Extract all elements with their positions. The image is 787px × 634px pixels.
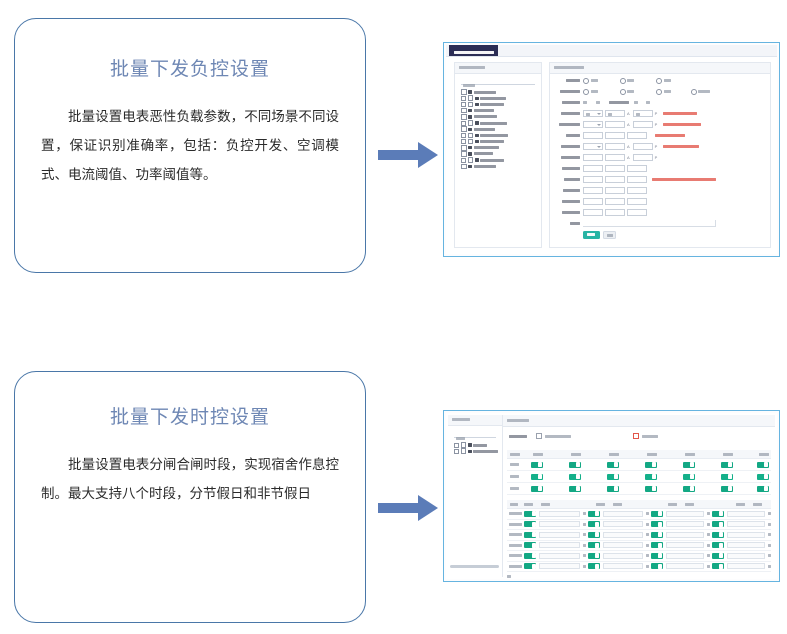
period-time-input[interactable] xyxy=(539,542,579,548)
toggle-switch[interactable] xyxy=(531,486,543,492)
period-sep xyxy=(583,523,586,526)
footer-note-bar xyxy=(507,575,511,578)
radio-label xyxy=(627,79,634,82)
submit-button[interactable] xyxy=(583,231,600,239)
threshold-input-1[interactable] xyxy=(583,143,603,150)
time-control-content xyxy=(503,415,775,577)
radio-label xyxy=(591,79,598,82)
period-time-input[interactable] xyxy=(727,542,765,548)
toggle-switch[interactable] xyxy=(683,474,695,480)
toggle-switch[interactable] xyxy=(645,474,657,480)
holiday-grid-row[interactable] xyxy=(507,459,771,471)
period-time-input[interactable] xyxy=(603,521,643,527)
tree-checkbox[interactable] xyxy=(468,133,474,139)
period-toggle[interactable] xyxy=(588,542,600,548)
period-time-input[interactable] xyxy=(727,553,765,559)
holiday-checkbox[interactable] xyxy=(633,433,639,439)
threshold-input-3[interactable] xyxy=(627,187,647,194)
time-control-header xyxy=(503,415,775,427)
panel-header-bar xyxy=(452,418,470,421)
toggle-switch[interactable] xyxy=(607,462,619,468)
device-tree-panel-header-2 xyxy=(448,415,502,426)
period-toggle[interactable] xyxy=(651,532,663,538)
window-inner-surface xyxy=(446,413,777,579)
toggle-switch[interactable] xyxy=(757,486,769,492)
window-inner-surface: A P A P xyxy=(446,45,777,254)
tab-load-control[interactable] xyxy=(449,45,498,56)
row-label xyxy=(510,487,519,490)
radio-label xyxy=(664,79,671,82)
period-time-input[interactable] xyxy=(666,521,704,527)
col-header xyxy=(533,453,543,456)
folder-icon xyxy=(468,109,472,112)
switch-value xyxy=(583,101,587,104)
tree-item-label xyxy=(474,165,496,168)
col-header xyxy=(753,503,762,506)
screenshot-time-control-window xyxy=(443,410,780,582)
search-placeholder-bar xyxy=(463,84,475,87)
form-label xyxy=(550,210,583,215)
device-tree-panel xyxy=(454,62,542,248)
radio-label xyxy=(591,90,598,93)
form-action-row[interactable] xyxy=(550,229,770,240)
tree-item-label xyxy=(474,91,496,94)
period-toggle[interactable] xyxy=(651,511,663,517)
period-time-input[interactable] xyxy=(727,532,765,538)
toggle-switch[interactable] xyxy=(645,462,657,468)
folder-icon xyxy=(468,128,472,131)
period-sep xyxy=(646,523,649,526)
expand-icon[interactable] xyxy=(461,139,466,144)
period-sep xyxy=(646,554,649,557)
arrow-to-time-control-screenshot xyxy=(378,495,438,521)
threshold-input-1[interactable] xyxy=(583,110,603,117)
form-hint xyxy=(652,178,716,181)
tab-strip xyxy=(446,45,777,57)
caption-card-load-control: 批量下发负控设置 批量设置电表恶性负载参数，不同场景不同设置，保证识别准确率，包… xyxy=(14,18,366,273)
period-label xyxy=(509,544,522,547)
tree-checkbox[interactable] xyxy=(461,151,467,157)
switch-sep xyxy=(596,101,600,104)
threshold-input-2[interactable] xyxy=(605,121,625,128)
folder-icon xyxy=(475,134,479,137)
period-toggle[interactable] xyxy=(712,511,724,517)
form-label xyxy=(550,133,583,138)
form-row-limit-power[interactable] xyxy=(550,196,770,207)
form-hint xyxy=(663,145,699,148)
period-toggle[interactable] xyxy=(712,521,724,527)
tree-item-label xyxy=(473,450,498,453)
tree-checkbox[interactable] xyxy=(468,157,474,163)
radio-option[interactable] xyxy=(620,78,626,84)
threshold-input-1[interactable] xyxy=(583,198,603,205)
toggle-switch[interactable] xyxy=(569,462,581,468)
col-header xyxy=(524,503,533,506)
tree-item-label xyxy=(480,122,507,125)
folder-icon xyxy=(468,90,472,93)
tree-item-label xyxy=(473,444,487,447)
tree-checkbox[interactable] xyxy=(468,139,474,145)
col-header xyxy=(571,453,581,456)
threshold-input-1[interactable] xyxy=(583,176,603,183)
threshold-input-2[interactable] xyxy=(605,132,625,139)
form-label xyxy=(550,78,583,83)
period-sep xyxy=(646,533,649,536)
period-sep xyxy=(707,512,710,515)
unit-label: P xyxy=(655,111,658,116)
form-row-current-threshold[interactable]: A P xyxy=(550,141,770,152)
period-sep xyxy=(707,544,710,547)
tree-item-label xyxy=(474,152,493,155)
switch-group-label xyxy=(609,101,629,104)
form-row-high-power[interactable] xyxy=(550,174,770,185)
tree-item-label xyxy=(474,109,494,112)
form-row-load-switch[interactable] xyxy=(550,97,770,108)
period-label xyxy=(509,512,522,515)
form-row-identify-mode[interactable] xyxy=(550,86,770,97)
period-toggle[interactable] xyxy=(588,521,600,527)
unit-label: A xyxy=(627,122,630,127)
tree-checkbox[interactable] xyxy=(468,95,474,101)
holiday-grid-header xyxy=(507,450,771,459)
radio-label xyxy=(664,90,671,93)
period-label xyxy=(509,533,522,536)
tree-item-label xyxy=(480,103,504,106)
form-row-power-threshold[interactable]: A P xyxy=(550,152,770,163)
card-title-load-control: 批量下发负控设置 xyxy=(15,54,365,81)
folder-icon xyxy=(468,450,472,453)
form-label xyxy=(550,89,583,94)
card-body-text-time-control: 批量设置电表分闸合闸时段，实现宿舍作息控制。最大支持八个时段，分节假日和非节假日 xyxy=(41,457,339,502)
date-value xyxy=(545,435,571,438)
period-row[interactable] xyxy=(507,530,771,541)
period-row[interactable] xyxy=(507,541,771,552)
tree-checkbox[interactable] xyxy=(461,126,467,132)
threshold-input-3[interactable] xyxy=(627,165,647,172)
threshold-input-3[interactable] xyxy=(627,176,647,183)
unit-label: A xyxy=(627,144,630,149)
period-row[interactable] xyxy=(507,520,771,531)
period-toggle[interactable] xyxy=(651,553,663,559)
load-parameter-form[interactable]: A P A P xyxy=(550,75,770,247)
period-toggle[interactable] xyxy=(524,553,536,559)
period-time-input[interactable] xyxy=(539,511,579,517)
tree-checkbox[interactable] xyxy=(461,442,467,448)
period-time-input[interactable] xyxy=(603,542,643,548)
period-toggle[interactable] xyxy=(712,532,724,538)
radio-option[interactable] xyxy=(656,89,662,95)
form-row-resistance-wire[interactable] xyxy=(550,130,770,141)
period-toggle[interactable] xyxy=(712,553,724,559)
form-hint xyxy=(663,112,697,115)
radio-label xyxy=(698,90,710,93)
arrow-to-load-control-screenshot xyxy=(378,142,438,168)
period-row[interactable] xyxy=(507,509,771,520)
period-time-input[interactable] xyxy=(727,521,765,527)
folder-icon xyxy=(475,140,479,143)
threshold-input-1[interactable] xyxy=(583,132,603,139)
col-header xyxy=(613,503,622,506)
form-row-heater-threshold[interactable]: A P xyxy=(550,119,770,130)
folder-icon xyxy=(468,165,472,168)
device-tree-panel-header xyxy=(455,63,541,74)
radio-option[interactable] xyxy=(583,78,589,84)
col-header xyxy=(541,503,550,506)
threshold-input-1[interactable] xyxy=(583,165,603,172)
form-panel-header xyxy=(550,63,770,74)
arrow-shaft xyxy=(378,150,420,160)
switch-value xyxy=(634,101,638,104)
toggle-switch[interactable] xyxy=(721,462,733,468)
toggle-switch[interactable] xyxy=(569,486,581,492)
device-tree-panel-2 xyxy=(448,415,503,577)
form-label xyxy=(550,199,583,204)
tree-item-label xyxy=(480,159,504,162)
tree-checkbox[interactable] xyxy=(461,145,467,151)
threshold-input-3[interactable] xyxy=(633,121,653,128)
search-placeholder-bar xyxy=(456,437,465,440)
folder-icon xyxy=(468,115,472,118)
form-hint xyxy=(655,134,685,137)
period-time-input[interactable] xyxy=(603,553,643,559)
device-tree-2[interactable] xyxy=(454,442,498,454)
submit-label-bar xyxy=(587,233,595,236)
expand-icon[interactable] xyxy=(461,158,466,163)
threshold-input-3[interactable] xyxy=(633,143,653,150)
expand-icon[interactable] xyxy=(461,133,466,138)
threshold-input-3[interactable] xyxy=(627,209,647,216)
form-label xyxy=(550,166,583,171)
arrow-shaft xyxy=(378,503,420,513)
reset-label-bar xyxy=(607,234,613,237)
threshold-input-1[interactable] xyxy=(583,187,603,194)
card-body-load-control: 批量设置电表恶性负载参数，不同场景不同设置，保证识别准确率，包括：负控开发、空调… xyxy=(41,103,339,190)
radio-option[interactable] xyxy=(583,89,589,95)
threshold-input-2[interactable] xyxy=(605,110,625,117)
tree-item-label xyxy=(474,115,497,118)
period-sep xyxy=(646,512,649,515)
period-sep xyxy=(707,533,710,536)
tree-checkbox[interactable] xyxy=(468,102,474,108)
tree-item-label xyxy=(474,128,495,131)
threshold-input-2[interactable] xyxy=(605,154,625,161)
period-toggle[interactable] xyxy=(524,511,536,517)
threshold-input-2[interactable] xyxy=(605,176,625,183)
period-time-input[interactable] xyxy=(666,532,704,538)
period-sep xyxy=(768,512,771,515)
screenshot-load-control-window: A P A P xyxy=(443,42,780,257)
threshold-input-1[interactable] xyxy=(583,209,603,216)
toggle-switch[interactable] xyxy=(531,474,543,480)
panel-header-bar xyxy=(459,66,485,69)
period-sep xyxy=(768,523,771,526)
expand-icon[interactable] xyxy=(454,443,459,448)
arrow-head xyxy=(418,142,438,168)
calendar-icon xyxy=(536,433,542,439)
tree-search-input[interactable] xyxy=(461,76,535,85)
panel-header-bar xyxy=(507,419,529,422)
period-toggle[interactable] xyxy=(712,542,724,548)
threshold-input-3[interactable] xyxy=(627,198,647,205)
period-toggle[interactable] xyxy=(588,532,600,538)
period-time-input[interactable] xyxy=(666,511,704,517)
threshold-input-2[interactable] xyxy=(605,143,625,150)
period-sep xyxy=(583,512,586,515)
unit-label: P xyxy=(655,155,658,160)
col-header xyxy=(685,453,695,456)
period-time-input[interactable] xyxy=(539,521,579,527)
toggle-switch[interactable] xyxy=(569,474,581,480)
period-time-input[interactable] xyxy=(666,553,704,559)
radio-label xyxy=(627,90,634,93)
period-row[interactable] xyxy=(507,551,771,562)
expand-icon[interactable] xyxy=(461,102,466,107)
device-tree[interactable] xyxy=(461,89,537,169)
form-row-protect-duration[interactable] xyxy=(550,207,770,218)
period-sep xyxy=(646,544,649,547)
period-toggle[interactable] xyxy=(524,521,536,527)
holiday-grid-row[interactable] xyxy=(507,471,771,483)
tab-label-bar xyxy=(454,51,494,54)
unit-label: A xyxy=(627,155,630,160)
tree-item-label xyxy=(480,140,504,143)
row-label xyxy=(510,475,519,478)
period-grid-body[interactable] xyxy=(507,509,771,572)
tree-horizontal-scrollbar[interactable] xyxy=(450,565,499,569)
tree-checkbox[interactable] xyxy=(461,89,467,95)
form-row-remark[interactable] xyxy=(550,218,770,229)
unit-label: P xyxy=(655,144,658,149)
grid-corner-label xyxy=(510,453,520,456)
form-label xyxy=(550,177,583,182)
form-row-ac-threshold[interactable]: A P xyxy=(550,108,770,119)
period-toggle[interactable] xyxy=(651,542,663,548)
toggle-switch[interactable] xyxy=(757,462,769,468)
folder-icon xyxy=(468,443,472,446)
tree-item[interactable] xyxy=(454,448,498,454)
threshold-input-2[interactable] xyxy=(605,198,625,205)
period-time-input[interactable] xyxy=(603,532,643,538)
threshold-input-3[interactable] xyxy=(633,154,653,161)
effective-date-row[interactable] xyxy=(509,431,771,441)
toggle-switch[interactable] xyxy=(531,462,543,468)
arrow-head xyxy=(418,495,438,521)
card-body-text-load-control: 批量设置电表恶性负载参数，不同场景不同设置，保证识别准确率，包括：负控开发、空调… xyxy=(41,109,339,183)
date-label xyxy=(509,435,527,438)
tree-checkbox[interactable] xyxy=(461,108,467,114)
reset-button[interactable] xyxy=(603,231,616,239)
col-header xyxy=(510,503,518,506)
threshold-input-2[interactable] xyxy=(605,165,625,172)
col-header xyxy=(759,453,769,456)
folder-icon xyxy=(475,97,479,100)
threshold-input-1[interactable] xyxy=(583,121,603,128)
toggle-switch[interactable] xyxy=(607,474,619,480)
radio-option[interactable] xyxy=(691,89,697,95)
panel-header-bar xyxy=(554,66,584,69)
remark-input[interactable] xyxy=(583,220,716,227)
holiday-grid-row[interactable] xyxy=(507,483,771,495)
threshold-input-2[interactable] xyxy=(605,187,625,194)
col-header xyxy=(736,503,745,506)
period-sep xyxy=(768,533,771,536)
toggle-switch[interactable] xyxy=(683,462,695,468)
tree-item-label xyxy=(474,146,499,149)
period-toggle[interactable] xyxy=(524,532,536,538)
folder-icon xyxy=(468,152,472,155)
form-row-malicious-load[interactable] xyxy=(550,185,770,196)
expand-icon[interactable] xyxy=(454,449,459,454)
col-header xyxy=(609,453,619,456)
time-control-footer xyxy=(507,568,771,582)
load-parameter-form-panel: A P A P xyxy=(549,62,771,248)
toggle-switch[interactable] xyxy=(607,486,619,492)
form-row-type[interactable] xyxy=(550,75,770,86)
tree-checkbox[interactable] xyxy=(461,164,467,170)
period-label xyxy=(509,554,522,557)
period-time-input[interactable] xyxy=(539,532,579,538)
form-label xyxy=(550,111,583,116)
form-label xyxy=(550,122,583,127)
period-time-input[interactable] xyxy=(603,511,643,517)
period-sep xyxy=(583,544,586,547)
period-toggle[interactable] xyxy=(588,553,600,559)
radio-option[interactable] xyxy=(656,78,662,84)
toggle-switch[interactable] xyxy=(683,486,695,492)
holiday-label xyxy=(642,435,658,438)
row-label xyxy=(510,463,519,466)
toggle-switch[interactable] xyxy=(721,474,733,480)
period-toggle[interactable] xyxy=(651,521,663,527)
tree-checkbox[interactable] xyxy=(468,120,474,126)
col-header xyxy=(723,453,733,456)
expand-icon[interactable] xyxy=(461,121,466,126)
tree-item[interactable] xyxy=(461,163,537,169)
tree-item-label xyxy=(480,97,506,100)
folder-icon xyxy=(475,103,479,106)
threshold-input-1[interactable] xyxy=(583,154,603,161)
toggle-switch[interactable] xyxy=(721,486,733,492)
threshold-input-3[interactable] xyxy=(633,110,653,117)
threshold-input-2[interactable] xyxy=(605,209,625,216)
tree-search-input-2[interactable] xyxy=(454,429,496,438)
tree-checkbox[interactable] xyxy=(461,114,467,120)
holiday-grid-body[interactable] xyxy=(507,459,771,495)
col-header xyxy=(668,503,677,506)
form-row-overload-threshold[interactable] xyxy=(550,163,770,174)
period-sep xyxy=(768,554,771,557)
switch-value xyxy=(646,101,650,104)
form-label xyxy=(550,221,583,226)
period-sep xyxy=(583,554,586,557)
toggle-switch[interactable] xyxy=(645,486,657,492)
col-header xyxy=(596,503,605,506)
period-toggle[interactable] xyxy=(588,511,600,517)
expand-icon[interactable] xyxy=(461,96,466,101)
period-time-input[interactable] xyxy=(666,542,704,548)
period-time-input[interactable] xyxy=(727,511,765,517)
tree-checkbox[interactable] xyxy=(461,448,467,454)
threshold-input-3[interactable] xyxy=(627,132,647,139)
folder-icon xyxy=(475,121,479,124)
period-toggle[interactable] xyxy=(524,542,536,548)
unit-label: P xyxy=(655,122,658,127)
radio-option[interactable] xyxy=(620,89,626,95)
toggle-switch[interactable] xyxy=(757,474,769,480)
col-header xyxy=(647,453,657,456)
folder-icon xyxy=(475,158,479,161)
period-time-input[interactable] xyxy=(539,553,579,559)
